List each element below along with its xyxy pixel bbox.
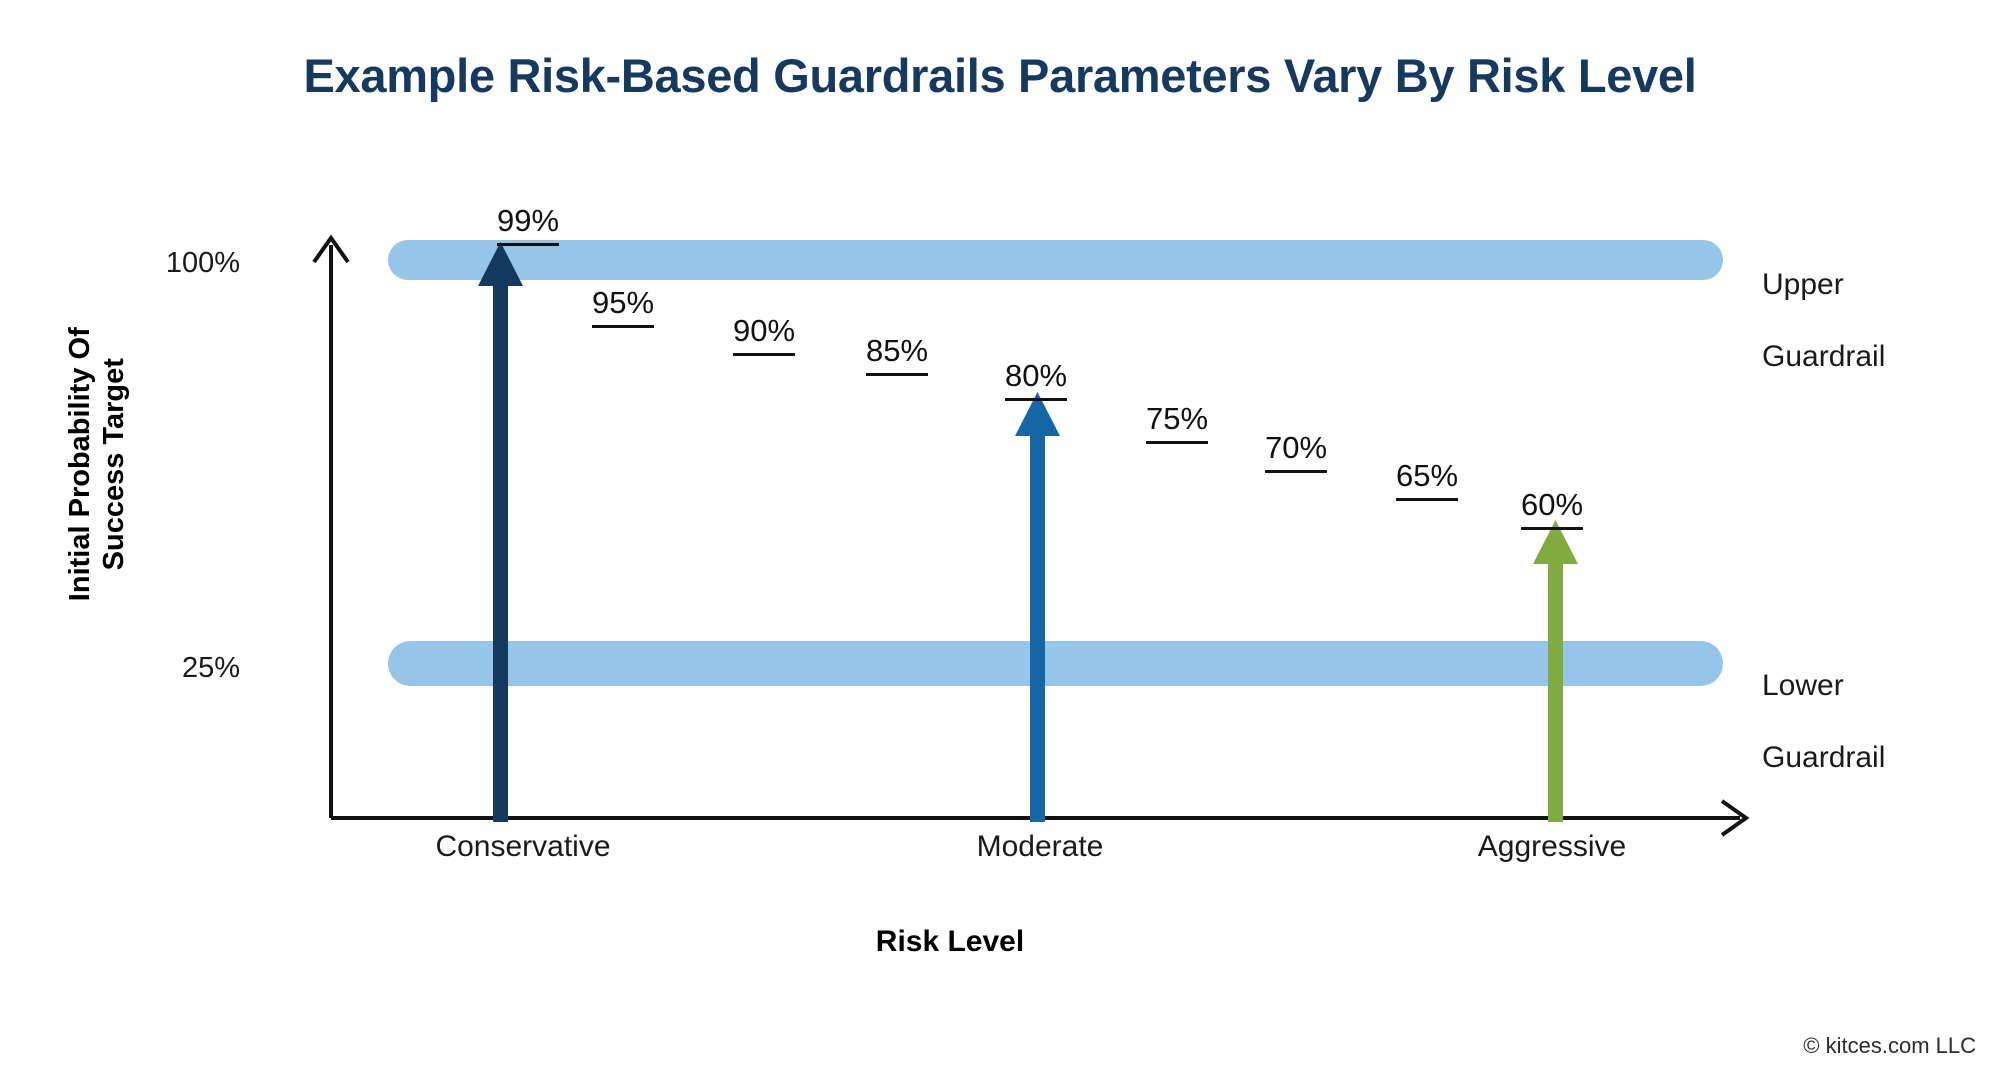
arrow-shaft bbox=[493, 278, 508, 822]
value-label-85: 85% bbox=[866, 333, 928, 376]
upper-guardrail-label-line1: Upper bbox=[1762, 267, 1885, 303]
value-label-95: 95% bbox=[592, 285, 654, 328]
value-label-80: 80% bbox=[1005, 358, 1067, 401]
value-label-75: 75% bbox=[1146, 401, 1208, 444]
value-label-99: 99% bbox=[497, 203, 559, 246]
x-tick-label-moderate: Moderate bbox=[840, 830, 1240, 864]
y-axis-title: Initial Probability Of Success Target bbox=[63, 294, 131, 634]
lower-guardrail-label-line2: Guardrail bbox=[1762, 740, 1885, 776]
y-axis-title-line1: Initial Probability Of bbox=[63, 294, 97, 634]
arrow-aggressive-60 bbox=[1524, 518, 1594, 822]
x-tick-label-aggressive: Aggressive bbox=[1352, 830, 1752, 864]
copyright-credit: © kitces.com LLC bbox=[1803, 1033, 1976, 1059]
chart-canvas: Example Risk-Based Guardrails Parameters… bbox=[0, 0, 2000, 1091]
arrow-shaft bbox=[1030, 428, 1045, 822]
value-label-90: 90% bbox=[733, 313, 795, 356]
y-axis-title-line2: Success Target bbox=[97, 294, 131, 634]
arrow-shaft bbox=[1548, 556, 1563, 822]
value-label-60: 60% bbox=[1521, 487, 1583, 530]
arrow-head-icon bbox=[478, 242, 523, 286]
x-axis-title: Risk Level bbox=[750, 925, 1150, 959]
lower-guardrail-label: Lower Guardrail bbox=[1762, 632, 1885, 812]
value-label-70: 70% bbox=[1265, 430, 1327, 473]
arrow-conservative-99 bbox=[465, 240, 535, 822]
x-tick-label-conservative: Conservative bbox=[323, 830, 723, 864]
upper-guardrail-band bbox=[388, 240, 1723, 280]
value-label-65: 65% bbox=[1396, 458, 1458, 501]
y-tick-label-100: 100% bbox=[100, 247, 240, 280]
arrow-moderate-80 bbox=[1006, 390, 1076, 822]
y-tick-label-25: 25% bbox=[100, 652, 240, 685]
lower-guardrail-label-line1: Lower bbox=[1762, 668, 1885, 704]
upper-guardrail-label: Upper Guardrail bbox=[1762, 231, 1885, 411]
upper-guardrail-label-line2: Guardrail bbox=[1762, 339, 1885, 375]
